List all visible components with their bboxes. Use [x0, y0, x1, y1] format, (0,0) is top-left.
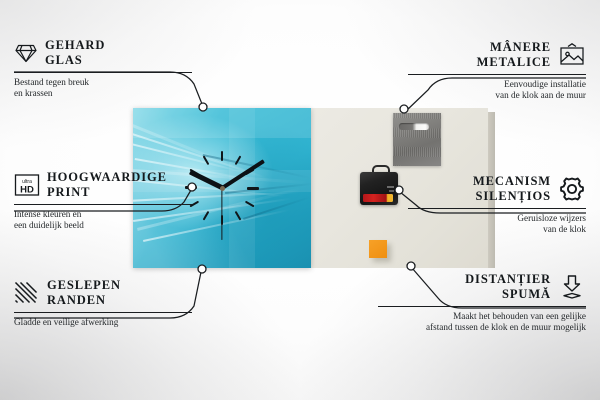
feature-title-line1: GEHARD [45, 38, 105, 53]
feature-title-line1: DISTANȚIER [465, 272, 551, 287]
aa-battery [363, 194, 393, 202]
orange-foam-spacer [369, 240, 387, 258]
callout-divider [378, 306, 586, 307]
hanger-keyhole-slot [399, 123, 429, 130]
callout-mecanism-silentios: MECANISM SILENȚIOS Geruisloze wijzers va… [408, 174, 586, 236]
callout-header: GEHARD GLAS [14, 38, 192, 68]
feature-title-line1: HOOGWAARDIGE [47, 170, 167, 185]
callout-header: GESLEPEN RANDEN [14, 278, 192, 308]
feature-title-line2: SPUMĂ [465, 287, 551, 302]
feature-title-line1: MECANISM [473, 174, 551, 189]
beveled-edge-icon [14, 281, 40, 305]
callout-header: ultra HD HOOGWAARDIGE PRINT [14, 170, 192, 200]
picture-frame-icon [558, 43, 586, 67]
feature-desc-line1: Intense kleuren en [14, 209, 192, 221]
callout-divider [14, 312, 192, 313]
feature-desc-line1: Eenvoudige installatie [408, 79, 586, 91]
callout-header: MECANISM SILENȚIOS [408, 174, 586, 204]
callout-geslepen-randen: GESLEPEN RANDEN Gladde en veilige afwerk… [14, 278, 192, 328]
clock-center-cap [220, 186, 225, 191]
quartz-clock-mechanism [360, 165, 398, 205]
feature-desc-line2: van de klok aan de muur [408, 90, 586, 102]
callout-header: MÂNERE METALICE [408, 40, 586, 70]
callout-divider [408, 208, 586, 209]
metal-hanger-plate [393, 113, 441, 166]
feature-desc-line1: Maakt het behouden van een gelijke [378, 311, 586, 323]
callout-header: DISTANȚIER SPUMĂ [378, 272, 586, 302]
callout-divider [14, 72, 192, 73]
feature-desc-line2: afstand tussen de klok en de muur mogeli… [378, 322, 586, 334]
callout-gehard-glas: GEHARD GLAS Bestand tegen breuk en krass… [14, 38, 192, 100]
svg-text:HD: HD [20, 184, 34, 195]
feature-desc-line2: van de klok [408, 224, 586, 236]
callout-divider [408, 74, 586, 75]
spacer-arrow-icon [558, 274, 586, 300]
feature-desc-line1: Bestand tegen breuk [14, 77, 192, 89]
callout-hoogwaardige-print: ultra HD HOOGWAARDIGE PRINT Intense kleu… [14, 170, 192, 232]
feature-desc-line2: en krassen [14, 88, 192, 100]
diamond-icon [14, 42, 38, 64]
feature-title-line2: SILENȚIOS [473, 189, 551, 204]
feature-title-line2: METALICE [477, 55, 551, 70]
feature-title-line2: GLAS [45, 53, 105, 68]
mechanism-label-line1 [387, 186, 394, 188]
feature-title-line1: GESLEPEN [47, 278, 121, 293]
ultra-hd-icon: ultra HD [14, 173, 40, 197]
mechanism-label-line2 [389, 190, 394, 192]
feature-title-line2: PRINT [47, 185, 167, 200]
feature-desc-line1: Gladde en veilige afwerking [14, 317, 192, 329]
feature-title-line2: RANDEN [47, 293, 121, 308]
feature-desc-line2: een duidelijk beeld [14, 220, 192, 232]
infographic-canvas: GEHARD GLAS Bestand tegen breuk en krass… [0, 0, 600, 400]
callout-manere-metalice: MÂNERE METALICE Eenvoudige installatie v… [408, 40, 586, 102]
gear-icon [558, 176, 586, 202]
feature-desc-line1: Geruisloze wijzers [408, 213, 586, 225]
mechanism-body [360, 172, 398, 205]
feature-title-line1: MÂNERE [477, 40, 551, 55]
callout-divider [14, 204, 192, 205]
callout-distantier-spuma: DISTANȚIER SPUMĂ Maakt het behouden van … [378, 272, 586, 334]
